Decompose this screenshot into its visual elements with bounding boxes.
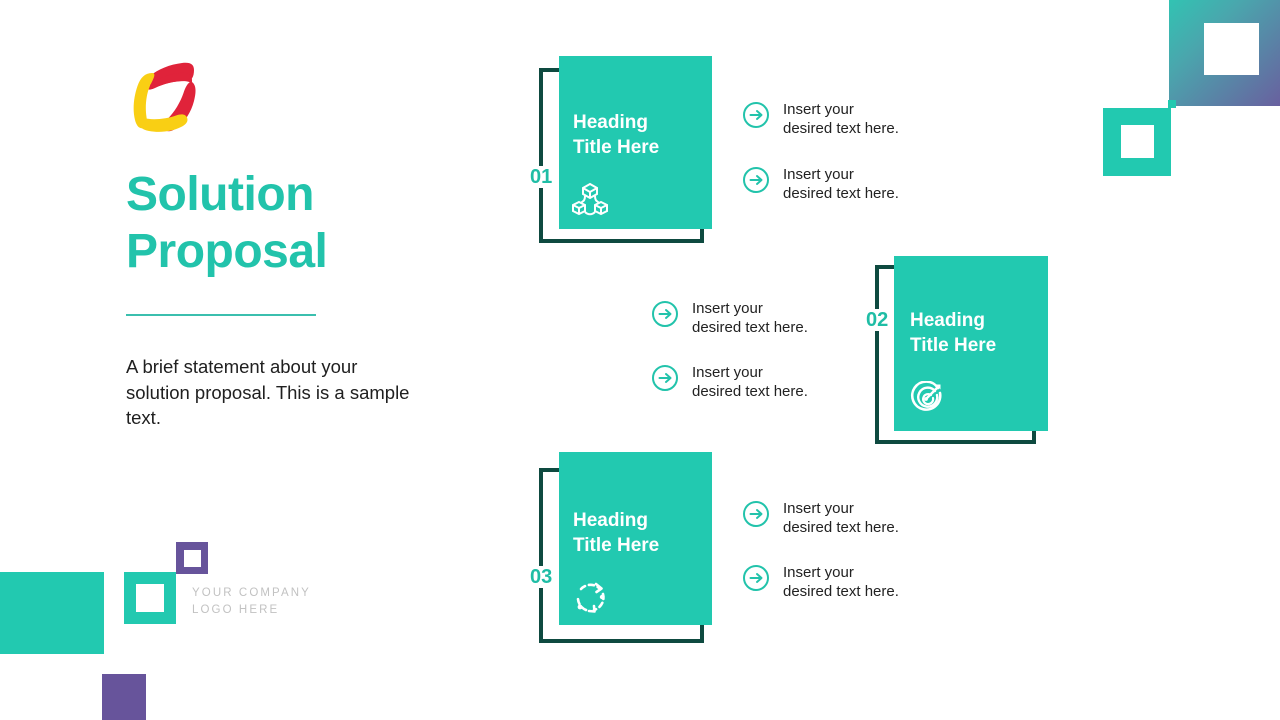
abstract-rounded-square-logo-icon: [124, 60, 200, 136]
card-02-heading-line-1: Heading: [910, 308, 996, 333]
list-item-text: Insert your desired text here.: [783, 499, 899, 537]
circle-arrow-right-icon: [742, 166, 770, 194]
card-03-number: 03: [528, 566, 554, 588]
circle-arrow-right-icon: [651, 364, 679, 392]
card-01[interactable]: Heading Title Here 01: [530, 50, 730, 250]
teal-square-inner: [1121, 125, 1154, 158]
list-item-line-2: desired text here.: [783, 185, 899, 202]
bottom-left-teal-block: [0, 572, 104, 654]
card-03-heading-line-2: Title Here: [573, 533, 659, 558]
list-item[interactable]: Insert your desired text here.: [651, 363, 808, 401]
list-item-text: Insert your desired text here.: [783, 165, 899, 203]
card-02[interactable]: Heading Title Here 02: [864, 248, 1064, 448]
company-logo-purple-inner: [184, 550, 201, 567]
list-item-text: Insert your desired text here.: [692, 363, 808, 401]
lead-paragraph: A brief statement about your solution pr…: [126, 354, 416, 431]
list-item-text: Insert your desired text here.: [783, 563, 899, 601]
company-logo-purple-square: [176, 542, 208, 574]
card-03-heading-line-1: Heading: [573, 508, 659, 533]
circle-arrow-right-icon: [742, 500, 770, 528]
list-item[interactable]: Insert your desired text here.: [651, 299, 808, 337]
list-item[interactable]: Insert your desired text here.: [742, 100, 899, 138]
page-title: Solution Proposal: [126, 166, 486, 280]
company-logo-text: YOUR COMPANY LOGO HERE: [192, 585, 372, 619]
list-item-line-1: Insert your: [783, 564, 854, 581]
list-item-text: Insert your desired text here.: [783, 100, 899, 138]
title-divider: [126, 314, 316, 316]
list-item-line-1: Insert your: [692, 364, 763, 381]
list-item-line-1: Insert your: [783, 166, 854, 183]
list-item-line-1: Insert your: [783, 500, 854, 517]
list-item-line-2: desired text here.: [783, 583, 899, 600]
circle-arrow-right-icon: [742, 564, 770, 592]
list-item[interactable]: Insert your desired text here.: [742, 165, 899, 203]
card-03-heading: Heading Title Here: [573, 508, 659, 558]
company-logo-line-1: YOUR COMPANY: [192, 585, 372, 602]
card-01-number: 01: [528, 166, 554, 188]
target-dart-icon: [908, 381, 944, 417]
network-blocks-icon: [572, 182, 608, 218]
list-item-line-1: Insert your: [692, 300, 763, 317]
page-title-line-1: Solution: [126, 166, 486, 223]
gradient-square-inner: [1204, 23, 1259, 75]
company-logo-line-2: LOGO HERE: [192, 602, 372, 619]
company-logo-teal-square: [124, 572, 176, 624]
bottom-purple-square-decoration: [102, 674, 146, 720]
list-item[interactable]: Insert your desired text here.: [742, 563, 899, 601]
circle-arrow-right-icon: [651, 300, 679, 328]
list-item-line-2: desired text here.: [783, 519, 899, 536]
card-02-heading: Heading Title Here: [910, 308, 996, 358]
company-logo-teal-inner: [136, 584, 164, 612]
list-item-line-2: desired text here.: [692, 383, 808, 400]
list-item-line-2: desired text here.: [692, 319, 808, 336]
card-02-heading-line-2: Title Here: [910, 333, 996, 358]
list-item-line-2: desired text here.: [783, 120, 899, 137]
card-02-number: 02: [864, 309, 890, 331]
gradient-square-decoration: [1169, 0, 1280, 106]
page-title-line-2: Proposal: [126, 223, 486, 280]
accent-dot-icon: [1168, 100, 1176, 108]
card-01-heading: Heading Title Here: [573, 110, 659, 160]
card-01-heading-line-1: Heading: [573, 110, 659, 135]
card-01-heading-line-2: Title Here: [573, 135, 659, 160]
list-item[interactable]: Insert your desired text here.: [742, 499, 899, 537]
circle-arrow-right-icon: [742, 101, 770, 129]
teal-square-decoration: [1103, 108, 1171, 176]
slide-canvas: Solution Proposal A brief statement abou…: [0, 0, 1280, 720]
list-item-text: Insert your desired text here.: [692, 299, 808, 337]
card-03[interactable]: Heading Title Here 03: [530, 450, 730, 650]
list-item-line-1: Insert your: [783, 101, 854, 118]
cycle-arrows-icon: [572, 580, 608, 616]
